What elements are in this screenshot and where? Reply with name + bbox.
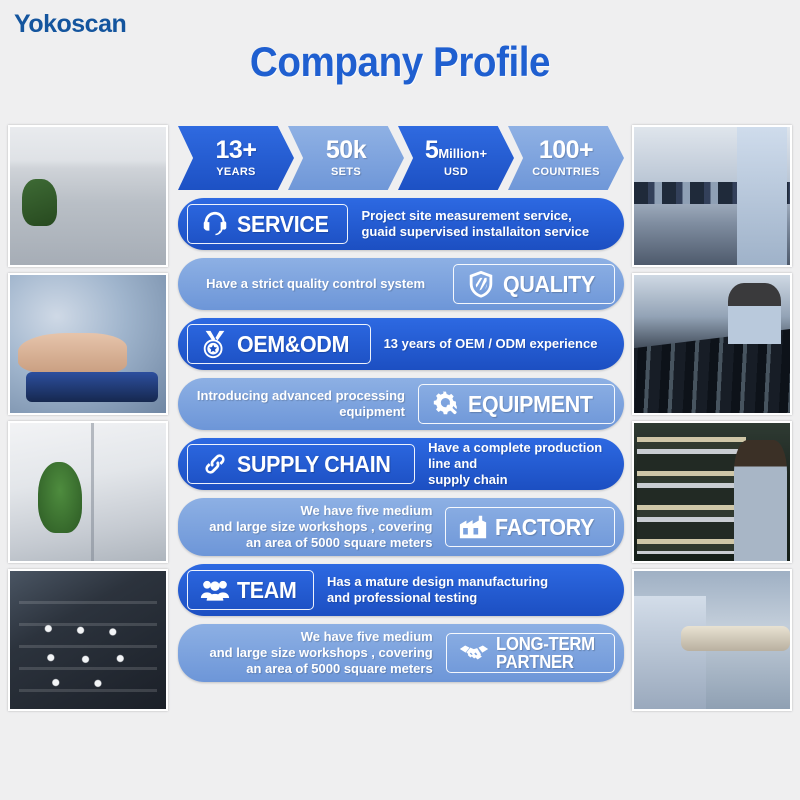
stat-block-years: 13+YEARS — [178, 126, 294, 190]
feature-badge-quality: QUALITY — [453, 264, 615, 304]
feature-row-factory: We have five medium and large size works… — [178, 498, 624, 556]
photo-workbench-assembly — [632, 125, 792, 267]
photo-column-right — [632, 125, 792, 711]
feature-badge-label: OEM&ODM — [237, 333, 349, 355]
feature-description-quality: Have a strict quality control system — [178, 276, 453, 292]
feature-description-team: Has a mature design manufacturing and pr… — [314, 574, 624, 606]
chain-link-icon — [200, 449, 230, 479]
feature-row-supply-chain: SUPPLY CHAINHave a complete production l… — [178, 438, 624, 490]
photo-inventory-rack — [632, 421, 792, 563]
feature-row-quality: Have a strict quality control systemQUAL… — [178, 258, 624, 310]
feature-badge-label: FACTORY — [495, 516, 594, 538]
photo-product-showcase — [8, 569, 168, 711]
photo-quality-inspection — [632, 569, 792, 711]
stat-value: 100+ — [539, 138, 593, 163]
stats-banner: 13+YEARS50kSETS5Million+USD100+COUNTRIES — [178, 126, 624, 190]
feature-badge-label: EQUIPMENT — [468, 393, 593, 415]
feature-badge-long-term-partner: LONG-TERM PARTNER — [446, 633, 615, 673]
photo-office-workspace — [8, 125, 168, 267]
stat-unit-inline: Million+ — [438, 146, 487, 161]
brand-logo: Yokoscan — [14, 10, 126, 39]
feature-description-service: Project site measurement service, guaid … — [348, 208, 624, 240]
gear-wrench-icon — [431, 389, 461, 419]
feature-row-oem-odm: OEM&ODM13 years of OEM / ODM experience — [178, 318, 624, 370]
stat-label: COUNTRIES — [532, 166, 599, 178]
stat-value: 13+ — [216, 138, 257, 163]
people-icon — [200, 575, 230, 605]
feature-row-list: SERVICEProject site measurement service,… — [178, 198, 624, 682]
feature-badge-label: SUPPLY CHAIN — [237, 453, 391, 475]
photo-column-left — [8, 125, 168, 711]
headset-icon — [200, 209, 230, 239]
factory-icon — [458, 512, 488, 542]
company-profile-infographic: Yokoscan Company Profile 13+YEARS50kSETS… — [0, 0, 800, 800]
feature-badge-label: SERVICE — [237, 213, 329, 235]
feature-row-service: SERVICEProject site measurement service,… — [178, 198, 624, 250]
feature-badge-supply-chain: SUPPLY CHAIN — [187, 444, 415, 484]
feature-row-long-term-partner: We have five medium and large size works… — [178, 624, 624, 682]
feature-badge-label: TEAM — [237, 579, 296, 601]
stat-label: SETS — [331, 166, 361, 178]
center-content: 13+YEARS50kSETS5Million+USD100+COUNTRIES… — [178, 126, 624, 682]
stat-block-countries: 100+COUNTRIES — [508, 126, 624, 190]
feature-badge-oem-odm: OEM&ODM — [187, 324, 371, 364]
feature-badge-equipment: EQUIPMENT — [418, 384, 615, 424]
photo-office-corridor — [8, 421, 168, 563]
page-title: Company Profile — [32, 38, 768, 86]
stat-label: USD — [444, 166, 468, 178]
feature-row-equipment: Introducing advanced processing equipmen… — [178, 378, 624, 430]
feature-badge-team: TEAM — [187, 570, 314, 610]
stat-label: YEARS — [216, 166, 255, 178]
shield-icon — [466, 269, 496, 299]
feature-description-equipment: Introducing advanced processing equipmen… — [178, 388, 418, 420]
medal-icon — [200, 329, 230, 359]
stat-value: 5Million+ — [425, 138, 487, 163]
stat-value: 50k — [326, 138, 366, 163]
handshake-icon — [459, 638, 489, 668]
photo-production-line — [632, 273, 792, 415]
feature-badge-factory: FACTORY — [445, 507, 615, 547]
feature-row-team: TEAMHas a mature design manufacturing an… — [178, 564, 624, 616]
photo-assembly-hands — [8, 273, 168, 415]
feature-description-supply-chain: Have a complete production line and supp… — [415, 440, 624, 488]
feature-badge-service: SERVICE — [187, 204, 348, 244]
stat-block-sets: 50kSETS — [288, 126, 404, 190]
feature-description-oem-odm: 13 years of OEM / ODM experience — [371, 336, 624, 352]
feature-badge-label: LONG-TERM PARTNER — [496, 635, 595, 672]
feature-badge-label: QUALITY — [503, 273, 595, 295]
feature-description-long-term-partner: We have five medium and large size works… — [178, 629, 446, 677]
feature-description-factory: We have five medium and large size works… — [178, 503, 445, 551]
stat-block-usd: 5Million+USD — [398, 126, 514, 190]
